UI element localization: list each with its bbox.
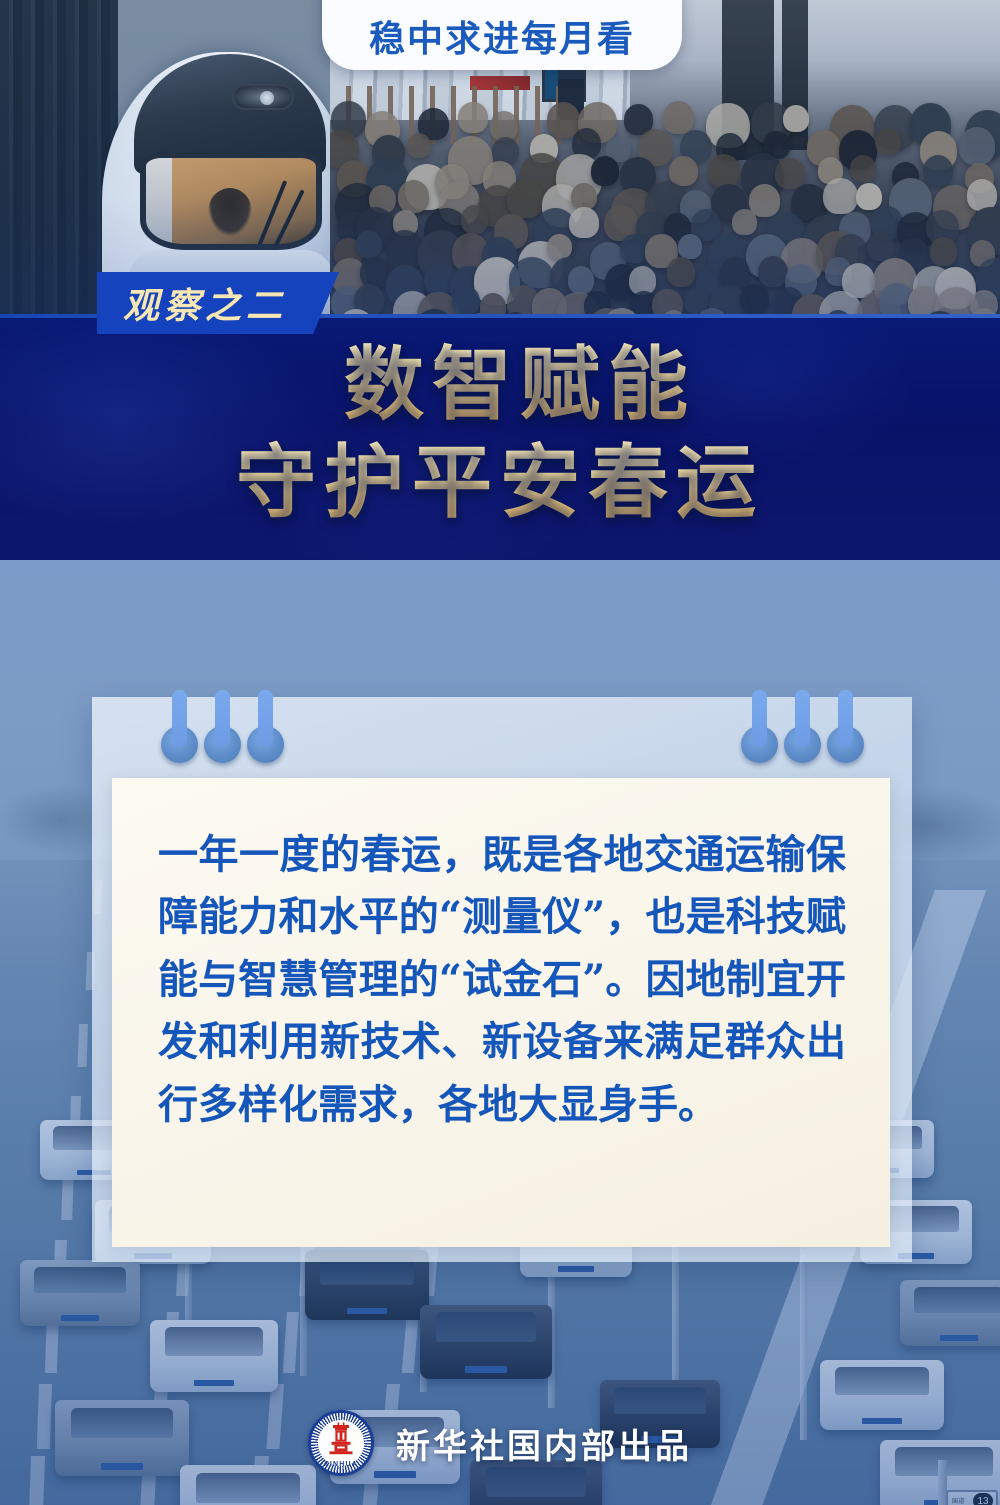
route-prefix-label: 国道 bbox=[952, 1496, 965, 1505]
observation-tag-body: 观察之二 bbox=[97, 272, 313, 334]
xinhua-pagoda-icon bbox=[324, 1422, 358, 1456]
page-title-line1: 数智赋能 bbox=[0, 336, 1000, 434]
series-badge: 稳中求进每月看 bbox=[322, 0, 682, 70]
note-card-pin bbox=[752, 690, 767, 746]
page-title: 数智赋能 守护平安春运 bbox=[0, 336, 1000, 531]
observation-tag-tail bbox=[313, 272, 339, 334]
series-badge-label: 稳中求进每月看 bbox=[369, 10, 635, 62]
page-title-line2: 守护平安春运 bbox=[0, 434, 1000, 532]
train-cab-window bbox=[140, 152, 322, 250]
note-card-pin bbox=[795, 690, 810, 746]
crowd-of-passengers bbox=[330, 96, 1000, 330]
note-card-paper: 一年一度的春运，既是各地交通运输保障能力和水平的“测量仪”，也是科技赋能与智慧管… bbox=[112, 778, 890, 1247]
footer-agency-text: 新华社国内部出品 bbox=[396, 1419, 692, 1468]
xinhua-logo-word: XINHUA bbox=[311, 1461, 371, 1468]
route-number-label: 13 bbox=[973, 1493, 993, 1505]
driver-silhouette bbox=[208, 188, 252, 236]
poster-root: 国道 13 世 业 Shiye 2km ↗ 稳中求进每月看 观察之二 数智赋能 … bbox=[0, 0, 1000, 1505]
route-shield: 国道 13 bbox=[946, 1490, 998, 1505]
note-card-body-text: 一年一度的春运，既是各地交通运输保障能力和水平的“测量仪”，也是科技赋能与智慧管… bbox=[158, 824, 846, 1136]
xinhua-logo-icon: XINHUA bbox=[308, 1410, 374, 1476]
observation-tag-label: 观察之二 bbox=[123, 277, 287, 329]
window-side-panel bbox=[146, 158, 172, 250]
train-headlamp bbox=[232, 84, 294, 110]
wiper-icon bbox=[254, 180, 287, 250]
observation-tag: 观察之二 bbox=[97, 272, 313, 334]
footer: XINHUA 新华社国内部出品 bbox=[0, 1404, 1000, 1482]
note-card-pin bbox=[258, 690, 273, 746]
note-card-pin bbox=[172, 690, 187, 746]
note-card-pin bbox=[838, 690, 853, 746]
note-card-pin bbox=[215, 690, 230, 746]
